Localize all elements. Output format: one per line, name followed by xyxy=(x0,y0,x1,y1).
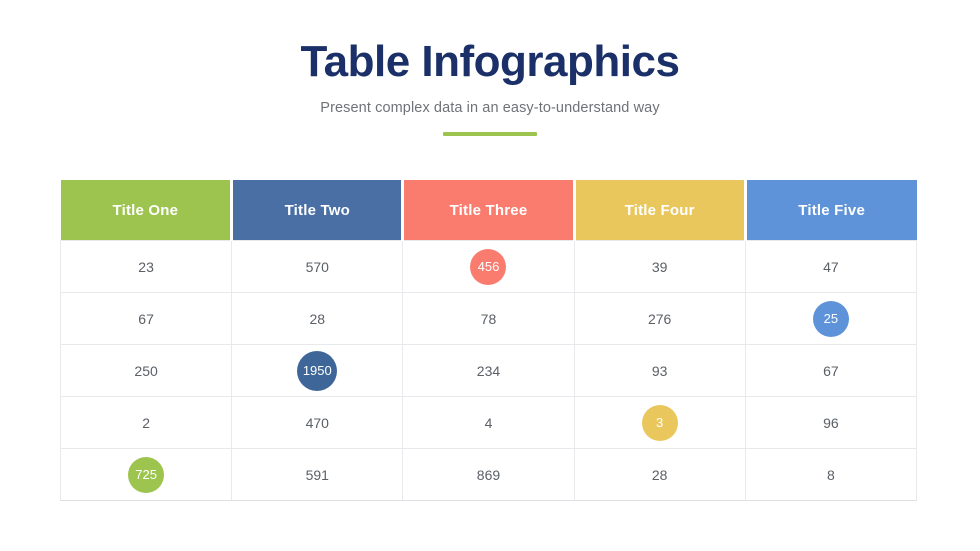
cell-value: 39 xyxy=(652,259,668,275)
cell-content: 39 xyxy=(575,241,745,292)
cell-value: 276 xyxy=(648,311,671,327)
table-cell: 3 xyxy=(574,397,745,449)
table-cell: 250 xyxy=(61,345,232,397)
table-cell: 28 xyxy=(574,449,745,501)
table-cell: 67 xyxy=(61,293,232,345)
table-cell: 470 xyxy=(232,397,403,449)
cell-value: 67 xyxy=(823,363,839,379)
highlight-bubble: 3 xyxy=(642,405,678,441)
cell-value: 869 xyxy=(477,467,500,483)
table-cell: 276 xyxy=(574,293,745,345)
column-header-4[interactable]: Title Four xyxy=(574,180,745,241)
table-row: 24704396 xyxy=(61,397,917,449)
table-cell: 2 xyxy=(61,397,232,449)
cell-content: 67 xyxy=(746,345,916,396)
cell-content: 234 xyxy=(403,345,573,396)
cell-content: 456 xyxy=(403,241,573,292)
cell-value: 93 xyxy=(652,363,668,379)
table-cell: 4 xyxy=(403,397,574,449)
cell-content: 4 xyxy=(403,397,573,448)
slide-canvas: Table Infographics Present complex data … xyxy=(0,0,980,551)
cell-content: 2 xyxy=(61,397,231,448)
column-header-3[interactable]: Title Three xyxy=(403,180,574,241)
table-container: Title OneTitle TwoTitle ThreeTitle FourT… xyxy=(60,180,917,501)
cell-value: 47 xyxy=(823,259,839,275)
header-block: Table Infographics Present complex data … xyxy=(0,38,980,136)
highlight-bubble: 1950 xyxy=(297,351,337,391)
table-cell: 234 xyxy=(403,345,574,397)
table-cell: 570 xyxy=(232,241,403,293)
table-row: 25019502349367 xyxy=(61,345,917,397)
table-cell: 456 xyxy=(403,241,574,293)
cell-value: 470 xyxy=(306,415,329,431)
cell-content: 23 xyxy=(61,241,231,292)
table-cell: 67 xyxy=(745,345,916,397)
page-subtitle: Present complex data in an easy-to-under… xyxy=(0,100,980,116)
table-cell: 725 xyxy=(61,449,232,501)
column-header-1[interactable]: Title One xyxy=(61,180,232,241)
cell-content: 8 xyxy=(746,449,916,500)
column-header-5[interactable]: Title Five xyxy=(745,180,916,241)
highlight-bubble: 725 xyxy=(128,457,164,493)
table-cell: 47 xyxy=(745,241,916,293)
table-cell: 28 xyxy=(232,293,403,345)
table-cell: 591 xyxy=(232,449,403,501)
cell-value: 23 xyxy=(138,259,154,275)
cell-content: 28 xyxy=(575,449,745,500)
cell-content: 1950 xyxy=(232,345,402,396)
cell-content: 3 xyxy=(575,397,745,448)
cell-value: 96 xyxy=(823,415,839,431)
column-header-2[interactable]: Title Two xyxy=(232,180,403,241)
accent-divider xyxy=(443,132,537,136)
cell-content: 96 xyxy=(746,397,916,448)
cell-value: 2 xyxy=(142,415,150,431)
table-cell: 96 xyxy=(745,397,916,449)
highlight-bubble: 456 xyxy=(470,249,506,285)
page-title: Table Infographics xyxy=(0,38,980,86)
cell-value: 591 xyxy=(306,467,329,483)
highlight-bubble: 25 xyxy=(813,301,849,337)
infographic-table: Title OneTitle TwoTitle ThreeTitle FourT… xyxy=(60,180,917,501)
table-cell: 8 xyxy=(745,449,916,501)
cell-content: 591 xyxy=(232,449,402,500)
cell-value: 250 xyxy=(134,363,157,379)
cell-value: 28 xyxy=(309,311,325,327)
cell-value: 570 xyxy=(306,259,329,275)
cell-content: 725 xyxy=(61,449,231,500)
cell-content: 67 xyxy=(61,293,231,344)
cell-content: 276 xyxy=(575,293,745,344)
cell-content: 28 xyxy=(232,293,402,344)
cell-content: 570 xyxy=(232,241,402,292)
table-row: 725591869288 xyxy=(61,449,917,501)
cell-content: 78 xyxy=(403,293,573,344)
table-body: 2357045639476728782762525019502349367247… xyxy=(61,241,917,501)
cell-value: 234 xyxy=(477,363,500,379)
cell-content: 47 xyxy=(746,241,916,292)
table-cell: 78 xyxy=(403,293,574,345)
table-cell: 25 xyxy=(745,293,916,345)
cell-content: 250 xyxy=(61,345,231,396)
cell-value: 28 xyxy=(652,467,668,483)
cell-content: 869 xyxy=(403,449,573,500)
table-header-row: Title OneTitle TwoTitle ThreeTitle FourT… xyxy=(61,180,917,241)
cell-content: 93 xyxy=(575,345,745,396)
cell-value: 78 xyxy=(481,311,497,327)
table-cell: 39 xyxy=(574,241,745,293)
table-row: 235704563947 xyxy=(61,241,917,293)
table-cell: 1950 xyxy=(232,345,403,397)
table-row: 67287827625 xyxy=(61,293,917,345)
table-cell: 93 xyxy=(574,345,745,397)
table-header: Title OneTitle TwoTitle ThreeTitle FourT… xyxy=(61,180,917,241)
cell-content: 470 xyxy=(232,397,402,448)
table-cell: 869 xyxy=(403,449,574,501)
cell-content: 25 xyxy=(746,293,916,344)
table-cell: 23 xyxy=(61,241,232,293)
cell-value: 67 xyxy=(138,311,154,327)
cell-value: 8 xyxy=(827,467,835,483)
cell-value: 4 xyxy=(485,415,493,431)
